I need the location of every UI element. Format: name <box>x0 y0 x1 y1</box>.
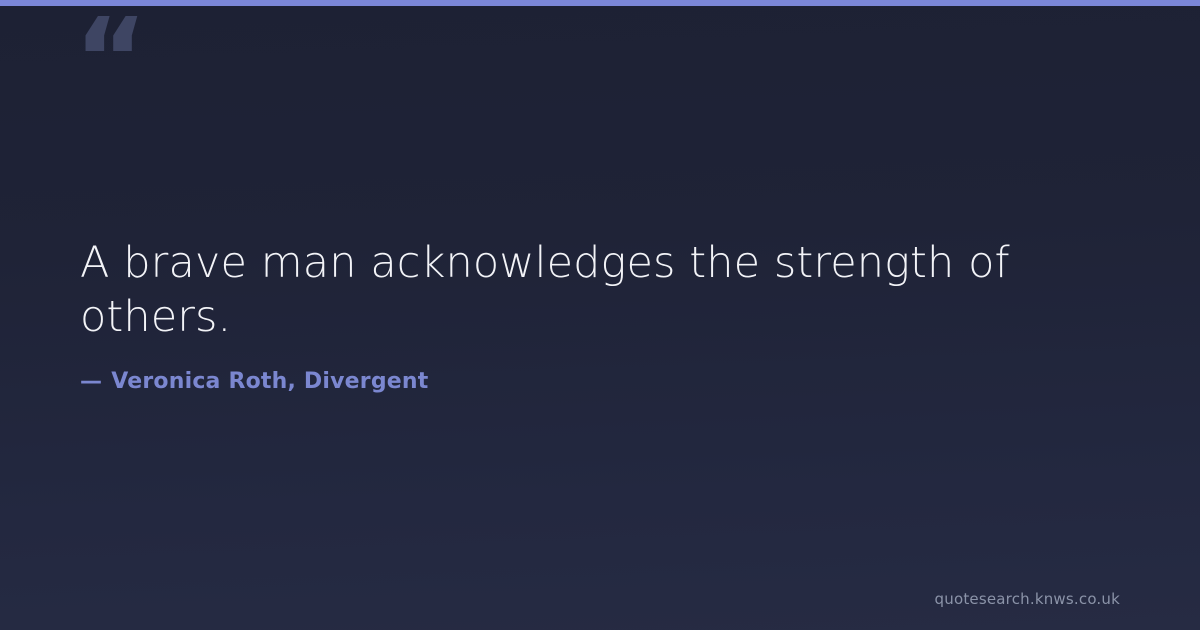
site-watermark: quotesearch.knws.co.uk <box>935 590 1120 608</box>
quote-card: “ A brave man acknowledges the strength … <box>0 0 1200 630</box>
attribution-dash: — <box>80 369 102 394</box>
attribution: — Veronica Roth, Divergent <box>80 369 1120 394</box>
attribution-text: Veronica Roth, Divergent <box>111 369 428 394</box>
quote-text: A brave man acknowledges the strength of… <box>80 236 1120 344</box>
quote-content: A brave man acknowledges the strength of… <box>80 0 1120 630</box>
